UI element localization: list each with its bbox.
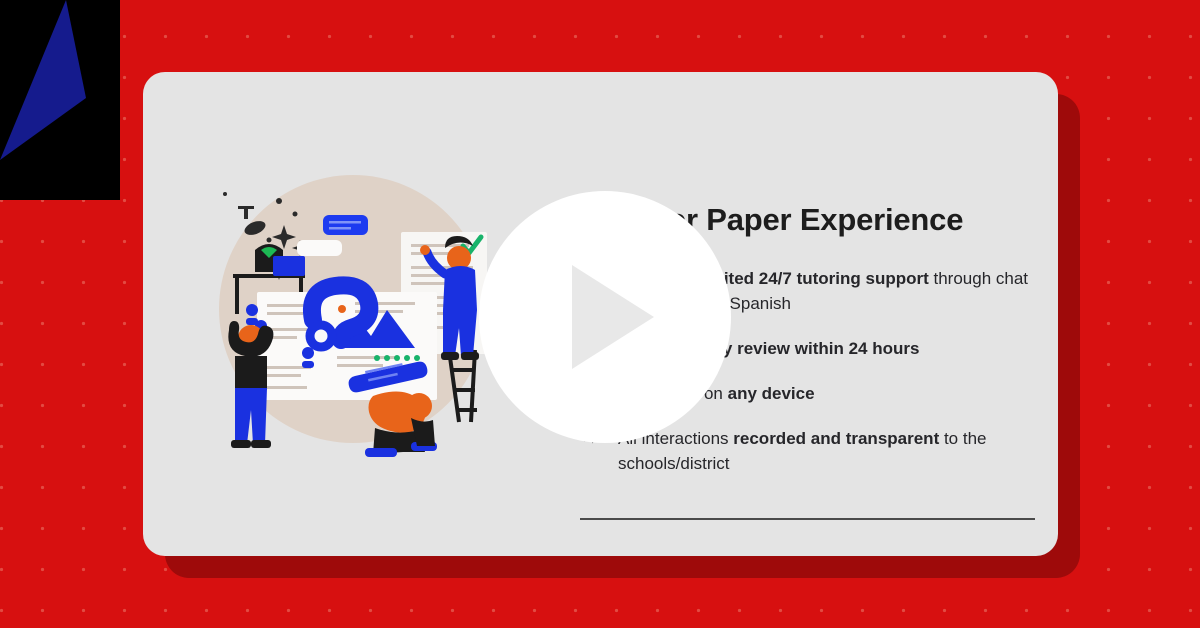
play-button[interactable] bbox=[479, 191, 731, 443]
video-thumbnail-stage: A Better Paper Experience → Instant, unl… bbox=[0, 0, 1200, 628]
bullet-text: All interactions recorded and transparen… bbox=[618, 426, 1035, 476]
play-triangle-icon bbox=[572, 265, 654, 369]
content-divider bbox=[580, 518, 1035, 520]
illustration bbox=[205, 170, 507, 472]
